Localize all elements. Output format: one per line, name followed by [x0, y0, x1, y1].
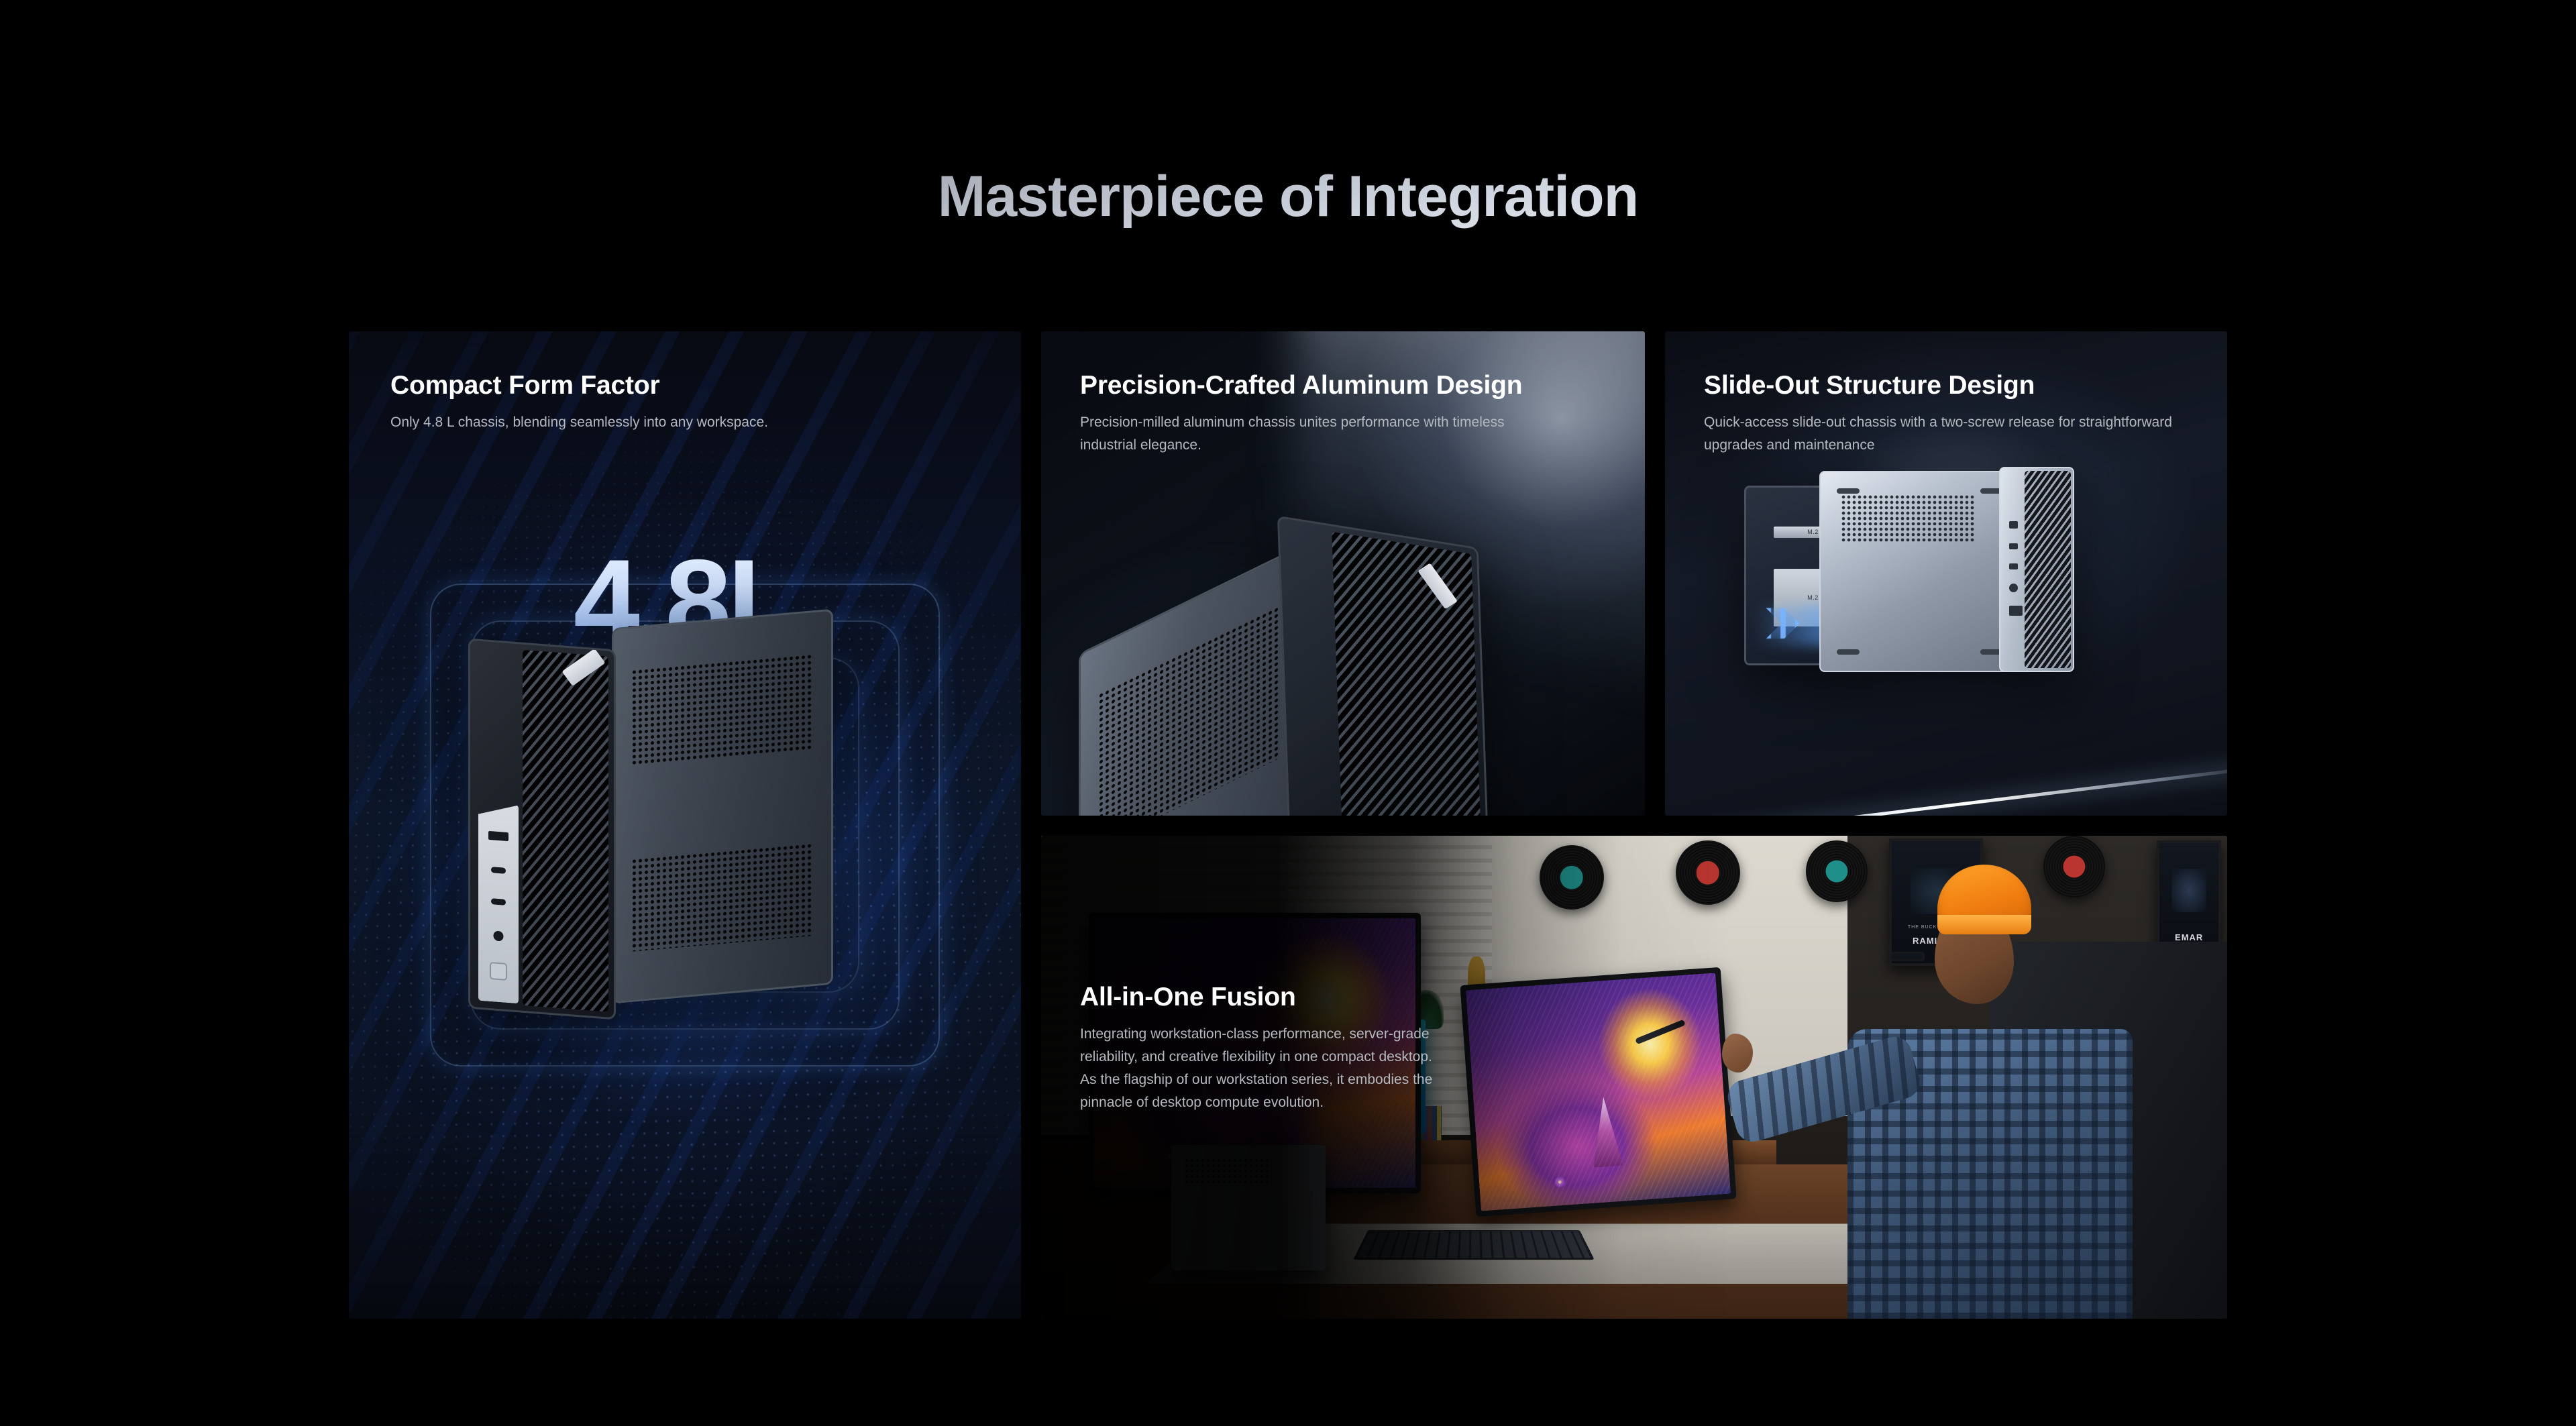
- card-compact-form-factor[interactable]: 4.8L Compact Form Factor Only 4.8 L ch: [349, 331, 1021, 1319]
- card-body: Only 4.8 L chassis, blending seamlessly …: [390, 411, 981, 434]
- card-body: Precision-milled aluminum chassis unites…: [1080, 411, 1550, 457]
- card-body: Integrating workstation-class performanc…: [1080, 1023, 1442, 1114]
- top-vent-mesh: [1098, 605, 1281, 816]
- feature-card-grid: 4.8L Compact Form Factor Only 4.8 L ch: [349, 331, 2227, 1319]
- page-title: Masterpiece of Integration: [0, 164, 2576, 230]
- chassis-side-panel: [612, 609, 833, 1004]
- headphone-jack-icon: [494, 930, 504, 941]
- power-button-icon[interactable]: [490, 962, 507, 981]
- card-heading: Precision-Crafted Aluminum Design: [1080, 370, 1550, 401]
- card-copy-slide-out: Slide-Out Structure Design Quick-access …: [1704, 370, 2194, 457]
- product-image-aluminum-chassis: [1165, 533, 1540, 816]
- brand-badge: [1417, 563, 1458, 609]
- brand-badge: [562, 649, 606, 686]
- rear-usb-c-2-icon: [2009, 543, 2018, 549]
- card-heading: Compact Form Factor: [390, 370, 981, 401]
- card-slide-out-structure[interactable]: M.2 2280 SSD M.2 2280 SSD Slide-: [1665, 331, 2227, 816]
- cover-vent-mesh: [1841, 494, 1976, 542]
- card-copy-fusion: All-in-One Fusion Integrating workstatio…: [1080, 982, 1456, 1114]
- rear-usb-a-icon: [2009, 606, 2023, 616]
- product-image-slide-out-chassis: M.2 2280 SSD M.2 2280 SSD: [1744, 471, 2127, 692]
- card-body: Quick-access slide-out chassis with a tw…: [1704, 411, 2194, 457]
- chassis-front-panel: [1277, 516, 1489, 816]
- card-heading: All-in-One Fusion: [1080, 982, 1456, 1013]
- usb-c-port-2-icon: [491, 898, 506, 906]
- rear-usb-c-3-icon: [2009, 563, 2018, 569]
- card-copy-aluminum: Precision-Crafted Aluminum Design Precis…: [1080, 370, 1550, 457]
- card-aluminum-design[interactable]: Precision-Crafted Aluminum Design Precis…: [1041, 331, 1645, 816]
- cover-slot-1: [1837, 488, 1860, 494]
- card-heading: Slide-Out Structure Design: [1704, 370, 2194, 401]
- usb-a-port-icon: [488, 830, 508, 840]
- rear-headphone-jack-icon: [2009, 584, 2018, 592]
- cover-slot-3: [1837, 649, 1860, 655]
- card-all-in-one-fusion[interactable]: THE BUCKY TALOTE RAMITIES EMAR: [1041, 836, 2227, 1319]
- side-vent-mesh-bottom: [631, 843, 814, 952]
- chassis-outer-shell: [1999, 467, 2074, 672]
- usb-c-port-icon: [491, 867, 506, 874]
- product-image-compact-tower: [468, 613, 844, 1016]
- front-io-strip: [478, 802, 519, 1003]
- chassis-front-panel: [468, 639, 616, 1020]
- side-vent-mesh-top: [631, 653, 814, 766]
- card-copy-compact: Compact Form Factor Only 4.8 L chassis, …: [390, 370, 981, 434]
- chassis-bottom-cover: [1819, 471, 2021, 672]
- rear-usb-c-icon: [2009, 521, 2018, 529]
